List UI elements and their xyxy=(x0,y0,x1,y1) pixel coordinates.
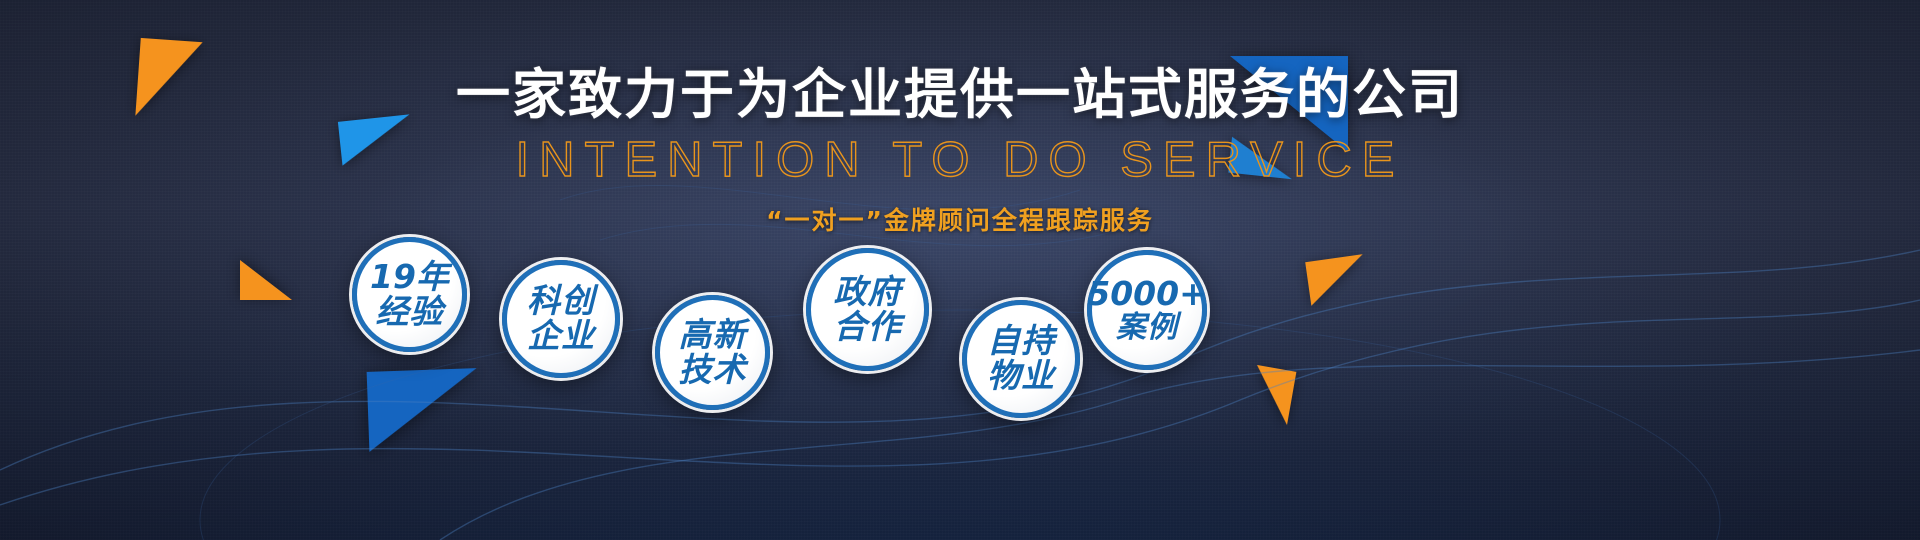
hero-banner: 一家致力于为企业提供一站式服务的公司 INTENTION TO DO SERVI… xyxy=(0,0,1920,540)
bubble-line-1: 19年 xyxy=(370,260,449,295)
bubble-line-2: 合作 xyxy=(834,310,902,345)
bubble-line-1: 5000+ xyxy=(1087,277,1207,312)
bubble-line-1: 自持 xyxy=(987,324,1055,359)
bubble-line-1: 科创 xyxy=(527,284,595,319)
bubble-high-tech[interactable]: 高新 技术 xyxy=(655,295,770,410)
bubble-experience[interactable]: 19年 经验 xyxy=(352,237,467,352)
bubble-government[interactable]: 政府 合作 xyxy=(806,248,929,371)
bubble-line-2: 物业 xyxy=(987,359,1055,394)
bubble-line-1: 政府 xyxy=(834,275,902,310)
bubble-tech-startup[interactable]: 科创 企业 xyxy=(502,260,620,378)
bubble-self-owned-estate[interactable]: 自持 物业 xyxy=(962,300,1080,418)
feature-bubble-group: 19年 经验 科创 企业 高新 技术 政府 合作 自持 物业 5000+ 案例 xyxy=(0,0,1920,540)
bubble-cases[interactable]: 5000+ 案例 xyxy=(1087,250,1207,370)
bubble-line-2: 经验 xyxy=(376,295,444,330)
bubble-line-2: 案例 xyxy=(1116,312,1178,344)
bubble-line-2: 企业 xyxy=(527,319,595,354)
bubble-line-2: 技术 xyxy=(679,353,747,388)
bubble-line-1: 高新 xyxy=(679,318,747,353)
